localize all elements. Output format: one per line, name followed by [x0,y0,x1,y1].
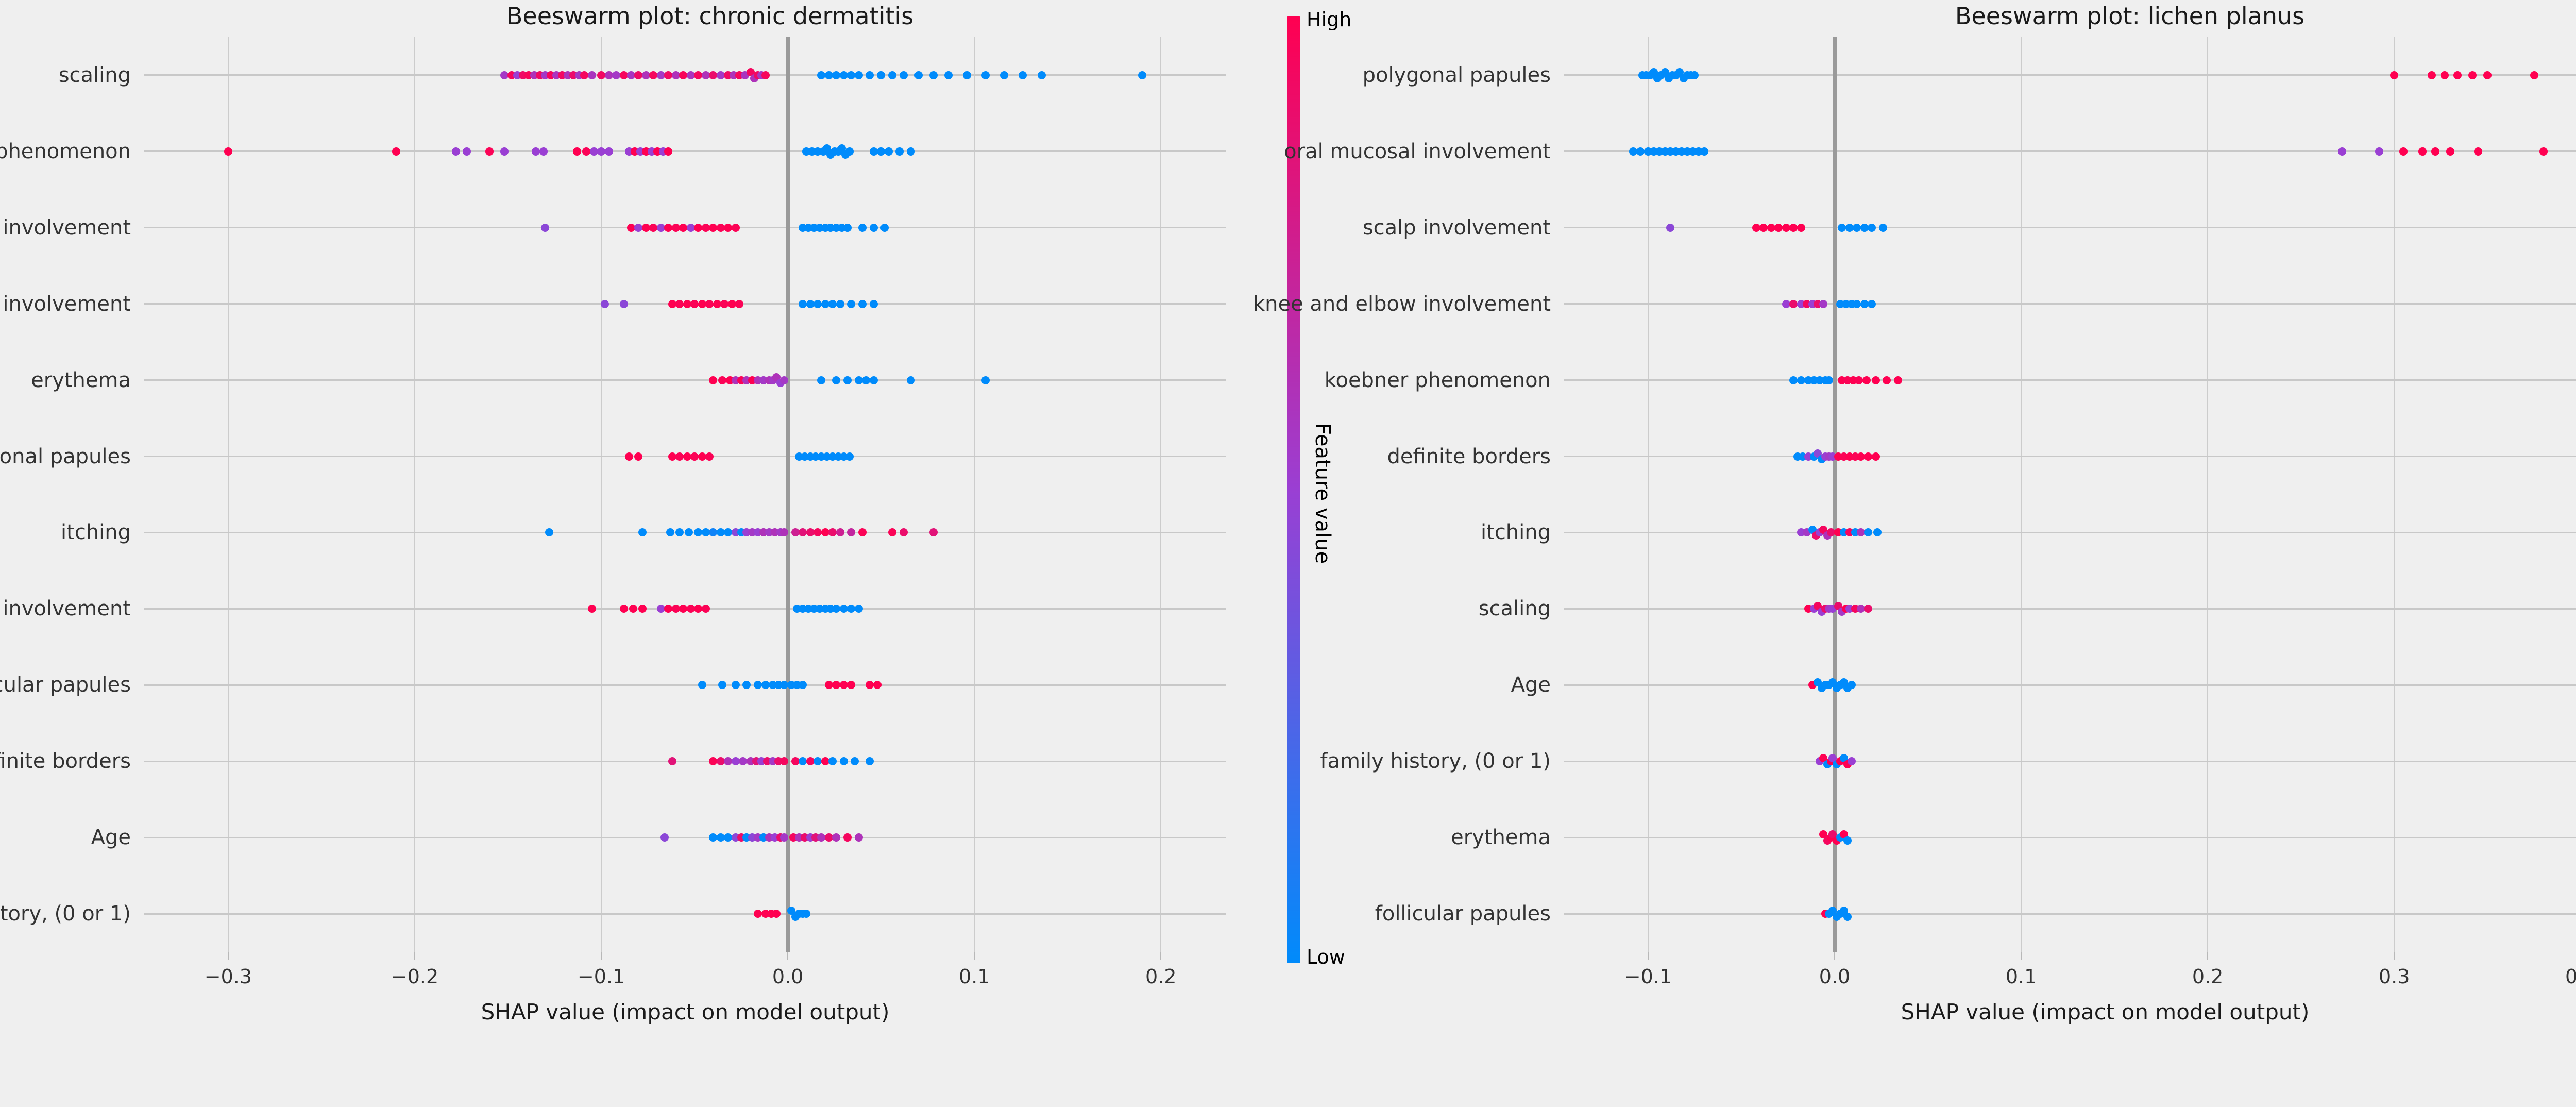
beeswarm-point [840,757,848,765]
beeswarm-point [873,681,882,689]
beeswarm-point [573,147,581,156]
beeswarm-point [802,910,810,918]
beeswarm-point [702,605,710,613]
beeswarm-point [2453,71,2462,79]
row-baseline [1564,379,2576,381]
beeswarm-point [1690,71,1699,79]
x-axis-tick-mark [2207,952,2208,960]
row-baseline [1564,837,2576,838]
beeswarm-point [981,71,990,79]
beeswarm-point [539,147,548,156]
row-baseline [144,379,1226,381]
x-axis-tick-mark [2394,952,2395,960]
beeswarm-point [742,681,751,689]
beeswarm-point [685,528,693,536]
gridline-x [414,37,415,952]
x-axis-tick-label: 0.0 [1819,965,1850,988]
row-baseline [144,684,1226,686]
beeswarm-point [799,681,807,689]
beeswarm-point [2390,71,2398,79]
y-axis-tick-label: itching [61,521,131,544]
row-baseline [144,761,1226,762]
beeswarm-point [452,147,460,156]
beeswarm-point [981,376,990,384]
beeswarm-point [709,376,717,384]
beeswarm-point [1000,71,1008,79]
gridline-x [2207,37,2208,952]
axes-background-right [1564,37,2576,952]
beeswarm-point [588,71,596,79]
beeswarm-point [735,300,743,308]
beeswarm-point [2431,147,2439,156]
beeswarm-point [1848,681,1856,689]
beeswarm-point [1019,71,1027,79]
beeswarm-point [638,528,647,536]
x-axis-tick-label: −0.1 [1624,965,1672,988]
x-axis-tick-mark [228,952,229,960]
y-axis-tick-label: Age [91,826,131,849]
beeswarm-point [847,300,855,308]
beeswarm-point [2399,147,2408,156]
beeswarm-point [1700,147,1708,156]
beeswarm-point [780,528,788,536]
beeswarm-point [664,147,672,156]
colorbar-high-label: High [1307,8,1351,31]
beeswarm-point [2530,71,2538,79]
row-baseline [1564,684,2576,686]
beeswarm-point [485,147,494,156]
beeswarm-point [1864,605,1872,613]
y-axis-tick-label: polygonal papules [0,445,131,468]
beeswarm-point [634,452,642,461]
x-axis-label-right: SHAP value (impact on model output) [1901,999,2310,1025]
plot-title-left: Beeswarm plot: chronic dermatitis [0,2,1420,30]
y-axis-tick-label: koebner phenomenon [1325,368,1551,392]
beeswarm-point [847,681,855,689]
y-axis-tick-label: scalp involvement [0,292,131,316]
beeswarm-point [845,452,854,461]
beeswarm-point [660,833,669,842]
beeswarm-point [1666,224,1674,232]
colorbar-low-label: Low [1307,946,1345,968]
beeswarm-point [1819,300,1827,308]
x-axis-tick-mark [1160,952,1161,960]
x-axis-tick-mark [1648,952,1649,960]
beeswarm-point [877,71,885,79]
y-axis-tick-label: definite borders [0,749,131,773]
beeswarm-point [1038,71,1046,79]
beeswarm-point [855,833,863,842]
axes-background-left [144,37,1226,952]
beeswarm-point [601,300,609,308]
beeswarm-point [900,71,908,79]
x-axis-tick-label: 0.1 [2006,965,2037,988]
beeswarm-point [914,71,923,79]
y-axis-tick-label: scalp involvement [1363,216,1551,240]
beeswarm-point [855,605,863,613]
x-axis-tick-label: −0.1 [578,965,625,988]
beeswarm-point [1872,376,1880,384]
beeswarm-point [666,528,674,536]
beeswarm-point [1848,757,1856,765]
beeswarm-point [620,605,628,613]
beeswarm-point [1883,376,1891,384]
beeswarm-point [2539,147,2548,156]
gridline-x [1648,37,1649,952]
beeswarm-point [2428,71,2436,79]
beeswarm-point [224,147,232,156]
beeswarm-point [705,452,714,461]
y-axis-tick-label: oral mucosal involvement [0,597,131,620]
beeswarm-point [2441,71,2449,79]
beeswarm-point [847,528,855,536]
x-axis-tick-mark [601,952,602,960]
y-axis-tick-label: knee and elbow involvement [0,216,131,240]
row-baseline [144,150,1226,152]
beeswarm-point [1868,300,1876,308]
gridline-x [601,37,602,952]
panel-lichen-planus: Beeswarm plot: lichen planus polygonal p… [1420,0,2576,1107]
beeswarm-point [2483,71,2492,79]
beeswarm-point [629,605,637,613]
beeswarm-point [1843,913,1852,921]
y-axis-tick-label: follicular papules [0,673,131,697]
beeswarm-point [718,681,726,689]
beeswarm-point [732,224,740,232]
gridline-x [2394,37,2395,952]
beeswarm-point [870,376,878,384]
beeswarm-point [392,147,400,156]
y-axis-tick-label: oral mucosal involvement [1284,140,1551,163]
row-baseline [1564,532,2576,533]
gridline-x [1160,37,1161,952]
row-baseline [1564,761,2576,762]
y-axis-tick-label: erythema [1451,826,1551,849]
beeswarm-point [832,376,840,384]
beeswarm-point [1873,528,1882,536]
axes-left [144,37,1226,952]
x-axis-tick-label: 0.2 [2192,965,2223,988]
beeswarm-point [625,452,633,461]
beeswarm-point [2418,147,2427,156]
y-axis-tick-label: family history, (0 or 1) [1320,749,1551,773]
y-axis-tick-label: scaling [1479,597,1551,620]
beeswarm-point [845,147,854,156]
beeswarm-point [541,224,549,232]
y-axis-tick-label: scaling [59,63,131,87]
beeswarm-point [2468,71,2477,79]
row-baseline [1564,608,2576,610]
beeswarm-point [1894,376,1902,384]
row-baseline [144,913,1226,915]
beeswarm-point [1862,376,1871,384]
beeswarm-point [2446,147,2454,156]
beeswarm-point [836,300,844,308]
beeswarm-point [1879,224,1887,232]
beeswarm-point [929,71,938,79]
beeswarm-point [851,757,859,765]
x-axis-tick-label: 0.0 [772,965,803,988]
beeswarm-point [888,528,896,536]
beeswarm-point [832,833,840,842]
beeswarm-point [638,605,647,613]
beeswarm-point [675,528,684,536]
beeswarm-point [836,528,844,536]
beeswarm-point [668,757,676,765]
beeswarm-point [1872,452,1880,461]
zero-reference-line [1833,37,1837,952]
gridline-x [974,37,975,952]
row-baseline [1564,913,2576,915]
x-axis-tick-mark [974,952,975,960]
row-baseline [144,837,1226,838]
y-axis-tick-label: knee and elbow involvement [1253,292,1551,316]
gridline-x [228,37,229,952]
beeswarm-point [843,833,852,842]
x-axis-tick-label: 0.2 [1145,965,1176,988]
beeswarm-point [463,147,471,156]
y-axis-tick-label: Age [1511,673,1551,697]
x-axis-tick-label: −0.3 [205,965,252,988]
beeswarm-point [732,681,740,689]
beeswarm-point [885,147,893,156]
x-axis-tick-mark [2021,952,2022,960]
beeswarm-point [817,376,825,384]
beeswarm-point [605,147,613,156]
y-axis-tick-label: erythema [31,368,131,392]
beeswarm-point [1864,528,1872,536]
x-axis-label-left: SHAP value (impact on model output) [481,999,890,1025]
beeswarm-point [870,224,878,232]
beeswarm-point [780,833,788,842]
beeswarm-point [1138,71,1146,79]
beeswarm-point [620,300,628,308]
x-axis-tick-label: 0.4 [2565,965,2576,988]
row-baseline [1564,303,2576,305]
figure-root: Beeswarm plot: chronic dermatitis scalin… [0,0,2576,1107]
y-axis-tick-label: family history, (0 or 1) [0,902,131,926]
beeswarm-point [880,224,889,232]
beeswarm-point [858,224,867,232]
beeswarm-point [858,300,867,308]
gridline-x [2021,37,2022,952]
beeswarm-point [944,71,953,79]
x-axis-tick-label: −0.2 [391,965,438,988]
panel-chronic-dermatitis: Beeswarm plot: chronic dermatitis scalin… [0,0,1420,1107]
y-axis-tick-label: follicular papules [1375,902,1551,926]
beeswarm-point [888,71,896,79]
beeswarm-point [2474,147,2482,156]
beeswarm-point [698,681,706,689]
beeswarm-point [780,376,788,384]
beeswarm-point [870,300,878,308]
x-axis-tick-mark [787,952,788,960]
x-axis-tick-mark [1834,952,1835,960]
beeswarm-point [1843,836,1852,845]
beeswarm-point [855,71,863,79]
row-baseline [1564,74,2576,76]
y-axis-tick-label: koebner phenomenon [0,140,131,163]
axes-right [1564,37,2576,952]
beeswarm-point [2375,147,2383,156]
beeswarm-point [1825,376,1833,384]
zero-reference-line [786,37,790,952]
beeswarm-point [761,71,770,79]
beeswarm-point [843,224,852,232]
y-axis-tick-label: polygonal papules [1363,63,1551,87]
beeswarm-point [907,147,915,156]
x-axis-tick-mark [414,952,415,960]
beeswarm-point [1797,224,1805,232]
beeswarm-point [545,528,553,536]
colorbar-title-left: Feature value [1311,423,1334,564]
beeswarm-point [895,147,904,156]
y-axis-tick-label: itching [1481,521,1551,544]
beeswarm-point [772,910,781,918]
beeswarm-point [858,528,867,536]
beeswarm-point [929,528,938,536]
plot-title-right: Beeswarm plot: lichen planus [1420,2,2576,30]
beeswarm-point [866,757,874,765]
beeswarm-point [963,71,971,79]
beeswarm-point [1868,224,1876,232]
beeswarm-point [866,71,874,79]
beeswarm-point [907,376,915,384]
x-axis-tick-label: 0.1 [959,965,990,988]
beeswarm-point [828,757,837,765]
beeswarm-point [780,757,788,765]
y-axis-tick-label: definite borders [1387,445,1551,468]
beeswarm-point [2338,147,2346,156]
row-baseline [1564,227,2576,228]
beeswarm-point [588,605,596,613]
beeswarm-point [500,147,509,156]
beeswarm-point [900,528,908,536]
x-axis-tick-label: 0.3 [2379,965,2410,988]
beeswarm-point [843,376,852,384]
row-baseline [1564,456,2576,457]
